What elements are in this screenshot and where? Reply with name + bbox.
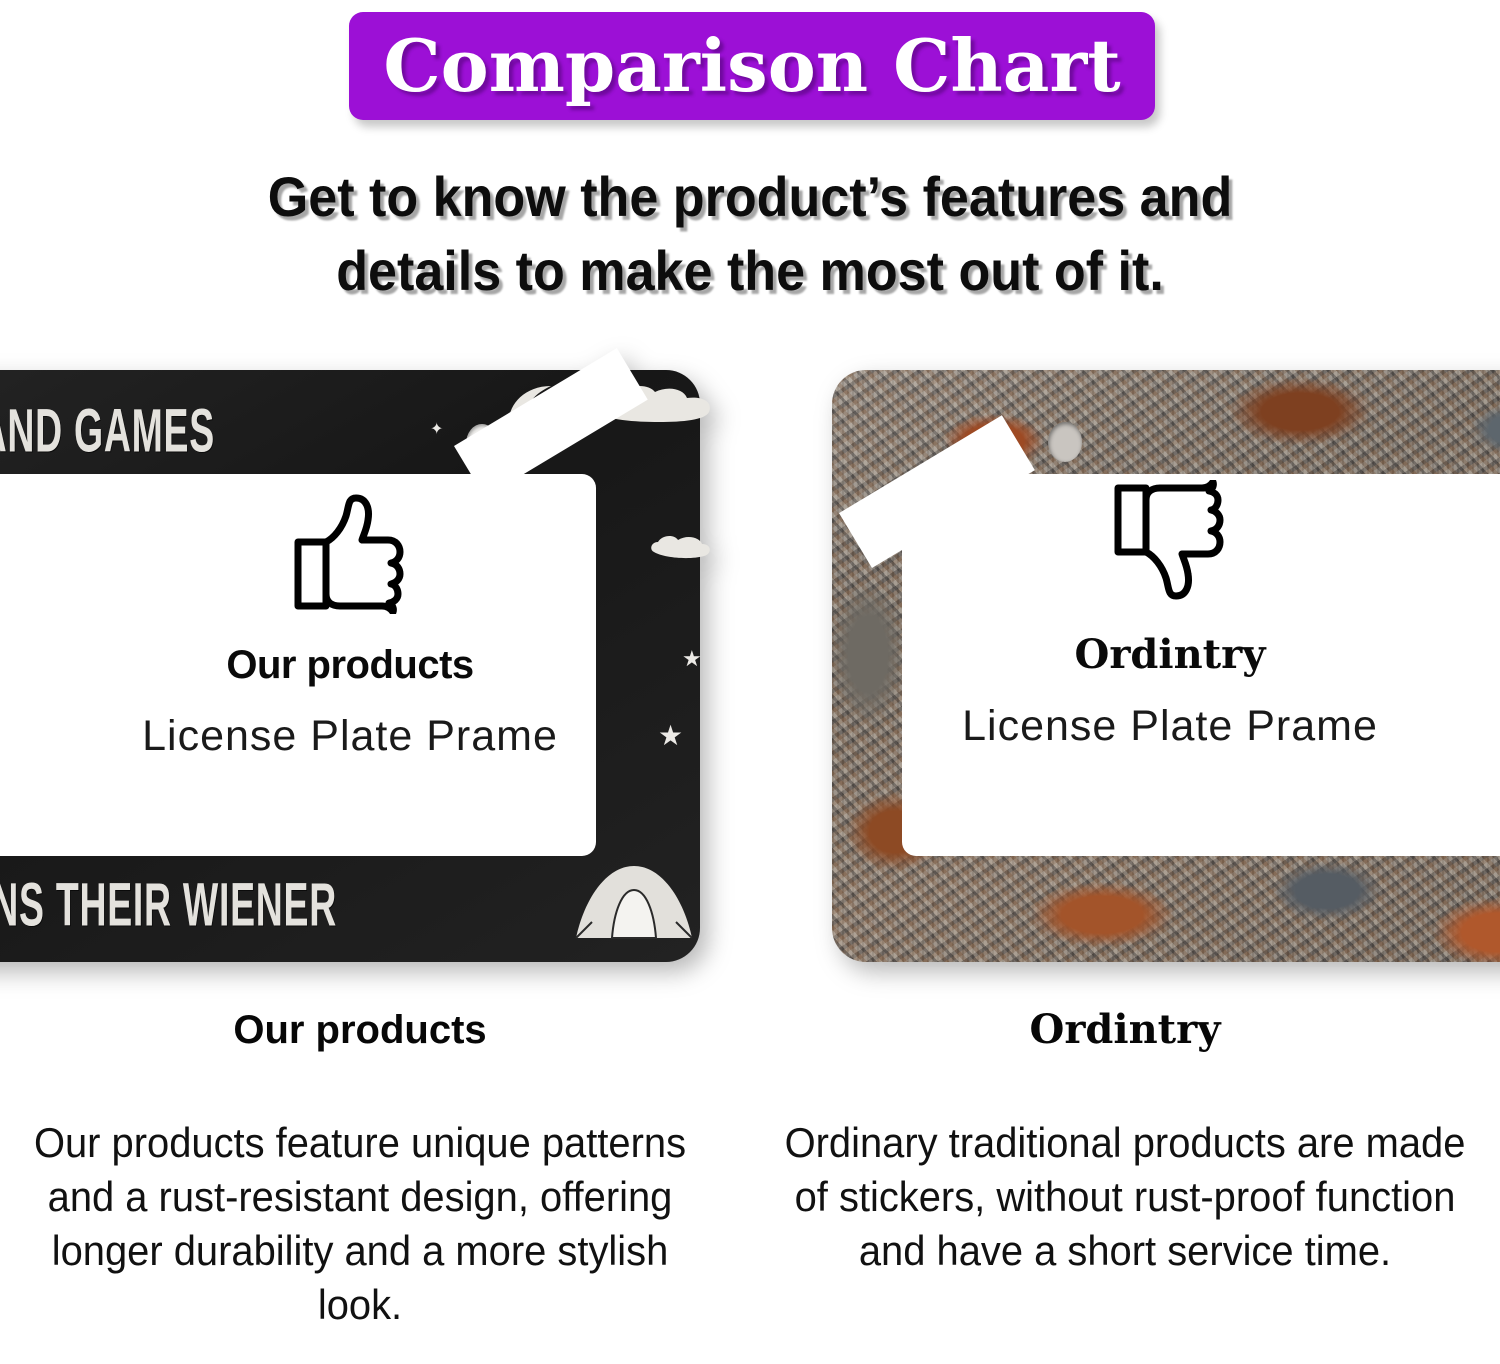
header: Comparison Chart Get to know the product… [0,0,1500,330]
product-showcase: S ALL FUN AND GAMES MEONE BURNS THEIR WI… [0,340,1500,1000]
subtitle-line-2: details to make the most out of it. [53,234,1448,308]
description-heading: Ordintry [760,1010,1490,1050]
screw-hole [1048,422,1082,462]
our-product-card: Our products License Plate Prame [20,490,680,758]
descriptions-row: Our products Our products feature unique… [0,1010,1500,1364]
product-brand-label: Our products [20,645,680,685]
plate-bottom-slogan: MEONE BURNS THEIR WIENER [0,870,337,941]
subtitle: Get to know the product’s features and d… [53,160,1448,308]
our-product-description-column: Our products Our products feature unique… [0,1010,725,1332]
product-name-label: License Plate Prame [840,705,1500,748]
title-banner: Comparison Chart [349,12,1155,120]
description-heading: Our products [0,1010,725,1050]
page-title: Comparison Chart [383,30,1120,102]
thumbs-down-icon [840,480,1500,609]
ordinary-product-description-column: Ordintry Ordinary traditional products a… [760,1010,1490,1278]
subtitle-line-1: Get to know the product’s features and [53,160,1448,234]
star-icon: ★ [682,648,702,670]
thumbs-up-icon [20,490,680,619]
tent-icon [566,864,702,944]
plate-top-slogan: S ALL FUN AND GAMES [0,396,215,467]
ordinary-product-card: Ordintry License Plate Prame [840,480,1500,748]
description-body: Ordinary traditional products are made o… [778,1116,1472,1278]
product-name-label: License Plate Prame [20,715,680,758]
description-body: Our products feature unique patterns and… [13,1116,707,1332]
star-icon: ✦ [430,422,443,438]
product-brand-label: Ordintry [840,635,1500,675]
